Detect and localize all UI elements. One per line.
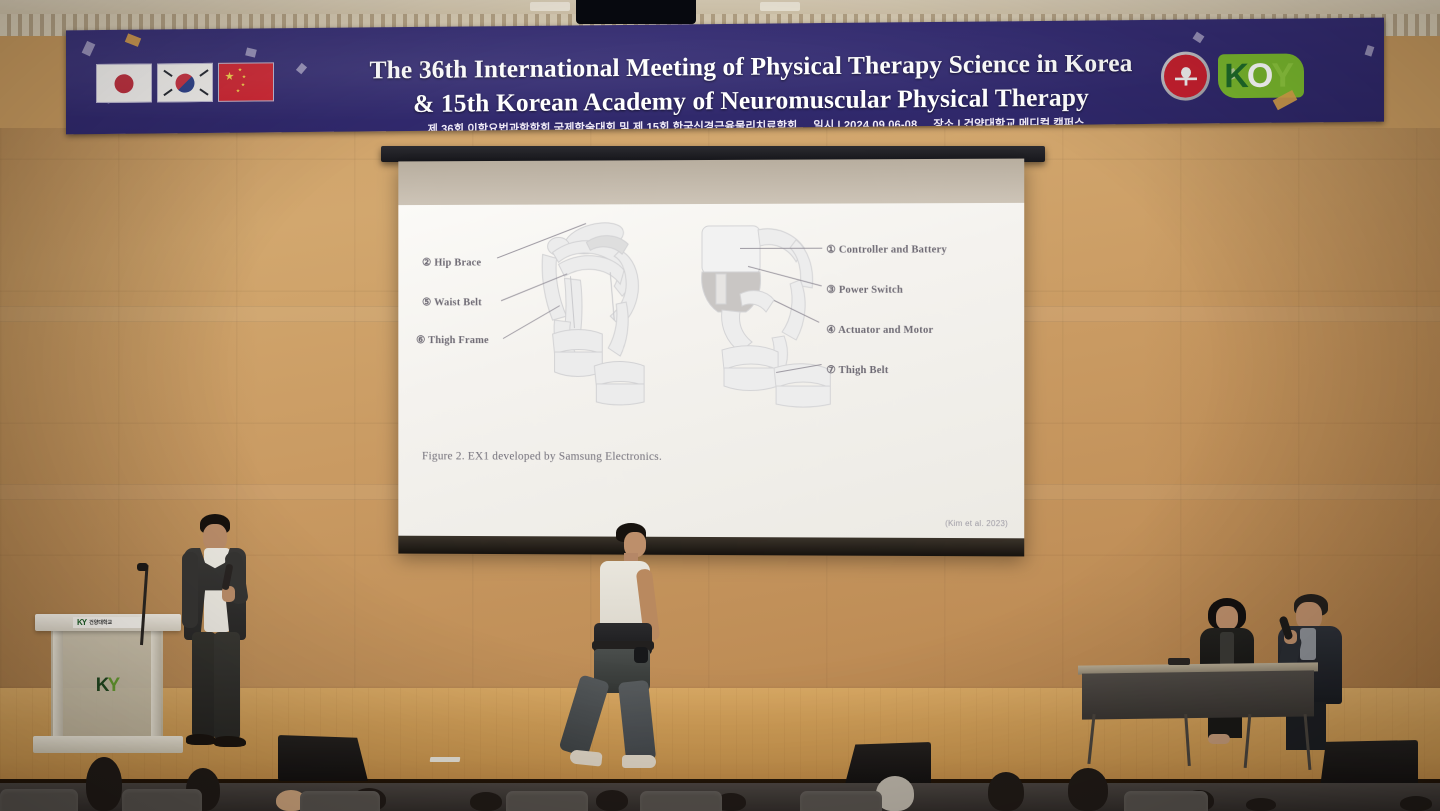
audience-head <box>470 792 502 811</box>
demonstrator-leg-front <box>618 680 656 763</box>
conference-banner: The 36th International Meeting of Physic… <box>66 18 1384 135</box>
banner-title-line1: The 36th International Meeting of Physic… <box>370 48 1133 84</box>
screen-top-margin <box>398 159 1024 206</box>
confetti <box>125 33 141 46</box>
audience-head <box>988 772 1024 811</box>
slide-label-hip-brace: ② Hip Brace <box>422 257 481 269</box>
audience-head <box>86 757 122 811</box>
paper-on-stage <box>430 757 461 762</box>
presenter-speaker <box>176 514 256 754</box>
china-flag <box>218 62 274 102</box>
demonstrator-leg-rear <box>559 674 610 757</box>
podium-post <box>53 631 63 741</box>
audience-seat <box>506 791 588 811</box>
audience-seat <box>1124 791 1208 811</box>
presenter-arm-left <box>182 552 198 628</box>
podium-plate-text: 건양대학교 <box>89 619 112 626</box>
stage-monitor-speaker-right <box>1320 740 1418 788</box>
confetti <box>245 47 257 57</box>
panel-table-skirt <box>1082 670 1314 719</box>
slide-label-actuator-motor: ④ Actuator and Motor <box>826 324 933 336</box>
audience-seat <box>800 791 882 811</box>
ceiling-recess <box>576 0 696 24</box>
object-on-table <box>1168 658 1190 665</box>
slide-content: ② Hip Brace ⑤ Waist Belt ⑥ Thigh Frame ①… <box>398 203 1024 538</box>
stage-monitor-speaker-left <box>278 735 368 781</box>
demonstrator-shoe-rear <box>569 749 602 766</box>
leader-line <box>740 248 822 249</box>
audience-head <box>596 790 628 811</box>
emblem-mark-icon <box>1173 67 1199 87</box>
slide-label-waist-belt: ⑤ Waist Belt <box>422 296 482 308</box>
podium-base <box>33 736 183 753</box>
audience-head <box>1246 798 1276 811</box>
microphone-head-icon <box>137 563 148 571</box>
confetti <box>1193 32 1205 44</box>
conference-stage-photo: The 36th International Meeting of Physic… <box>0 0 1440 811</box>
audience-seat <box>640 791 722 811</box>
panelist-left-foot <box>1208 734 1230 744</box>
panelist-left-inner-shirt <box>1220 632 1234 666</box>
audience-seat <box>122 789 202 811</box>
south-korea-flag <box>157 63 213 103</box>
banner-logo-group: KOY <box>1161 51 1292 101</box>
podium-post <box>151 631 161 741</box>
konyang-ky-logo: KOY <box>1224 58 1292 93</box>
slide-label-controller-battery: ① Controller and Battery <box>826 243 947 255</box>
presenter-leg-right <box>214 632 240 740</box>
panelist-left-face <box>1216 606 1238 630</box>
panelist-right-shirt <box>1300 628 1316 660</box>
audience-head <box>1400 796 1432 811</box>
japan-flag <box>96 64 152 104</box>
society-emblem-logo <box>1161 51 1210 100</box>
exoskeleton-worn-actuator <box>634 647 648 663</box>
projection-screen: ② Hip Brace ⑤ Waist Belt ⑥ Thigh Frame ①… <box>398 159 1024 557</box>
podium-front-logo: KY <box>96 675 118 697</box>
podium: KY KY 건양대학교 <box>33 614 183 759</box>
banner-title: The 36th International Meeting of Physic… <box>321 46 1181 122</box>
audience-seat <box>300 791 380 811</box>
podium-name-plate: KY 건양대학교 <box>73 617 143 628</box>
audience-seat <box>0 789 78 811</box>
demonstrator-shoe-front <box>622 755 656 768</box>
screen-surface: ② Hip Brace ⑤ Waist Belt ⑥ Thigh Frame ①… <box>398 203 1024 538</box>
confetti <box>82 41 96 57</box>
ceiling-light <box>760 2 800 11</box>
presenter-shoe-left <box>186 734 216 745</box>
presenter-shoe-right <box>214 736 246 747</box>
podium-plate-logo: KY <box>77 618 86 627</box>
flag-group <box>96 62 274 103</box>
demonstrator-walking <box>566 523 686 773</box>
confetti <box>1365 45 1375 57</box>
slide-label-power-switch: ③ Power Switch <box>826 284 903 296</box>
presenter-face <box>203 524 227 551</box>
slide-label-thigh-belt: ⑦ Thigh Belt <box>826 364 888 376</box>
slide-citation: (Kim et al. 2023) <box>945 519 1008 528</box>
podium-body: KY <box>51 631 163 736</box>
audience-head <box>1068 768 1108 811</box>
screen-bottom-bar <box>398 536 1024 557</box>
slide-caption: Figure 2. EX1 developed by Samsung Elect… <box>422 450 662 463</box>
ceiling-light <box>530 2 570 11</box>
slide-label-thigh-frame: ⑥ Thigh Frame <box>416 334 489 346</box>
presenter-leg-left <box>192 632 216 738</box>
confetti <box>296 63 307 74</box>
